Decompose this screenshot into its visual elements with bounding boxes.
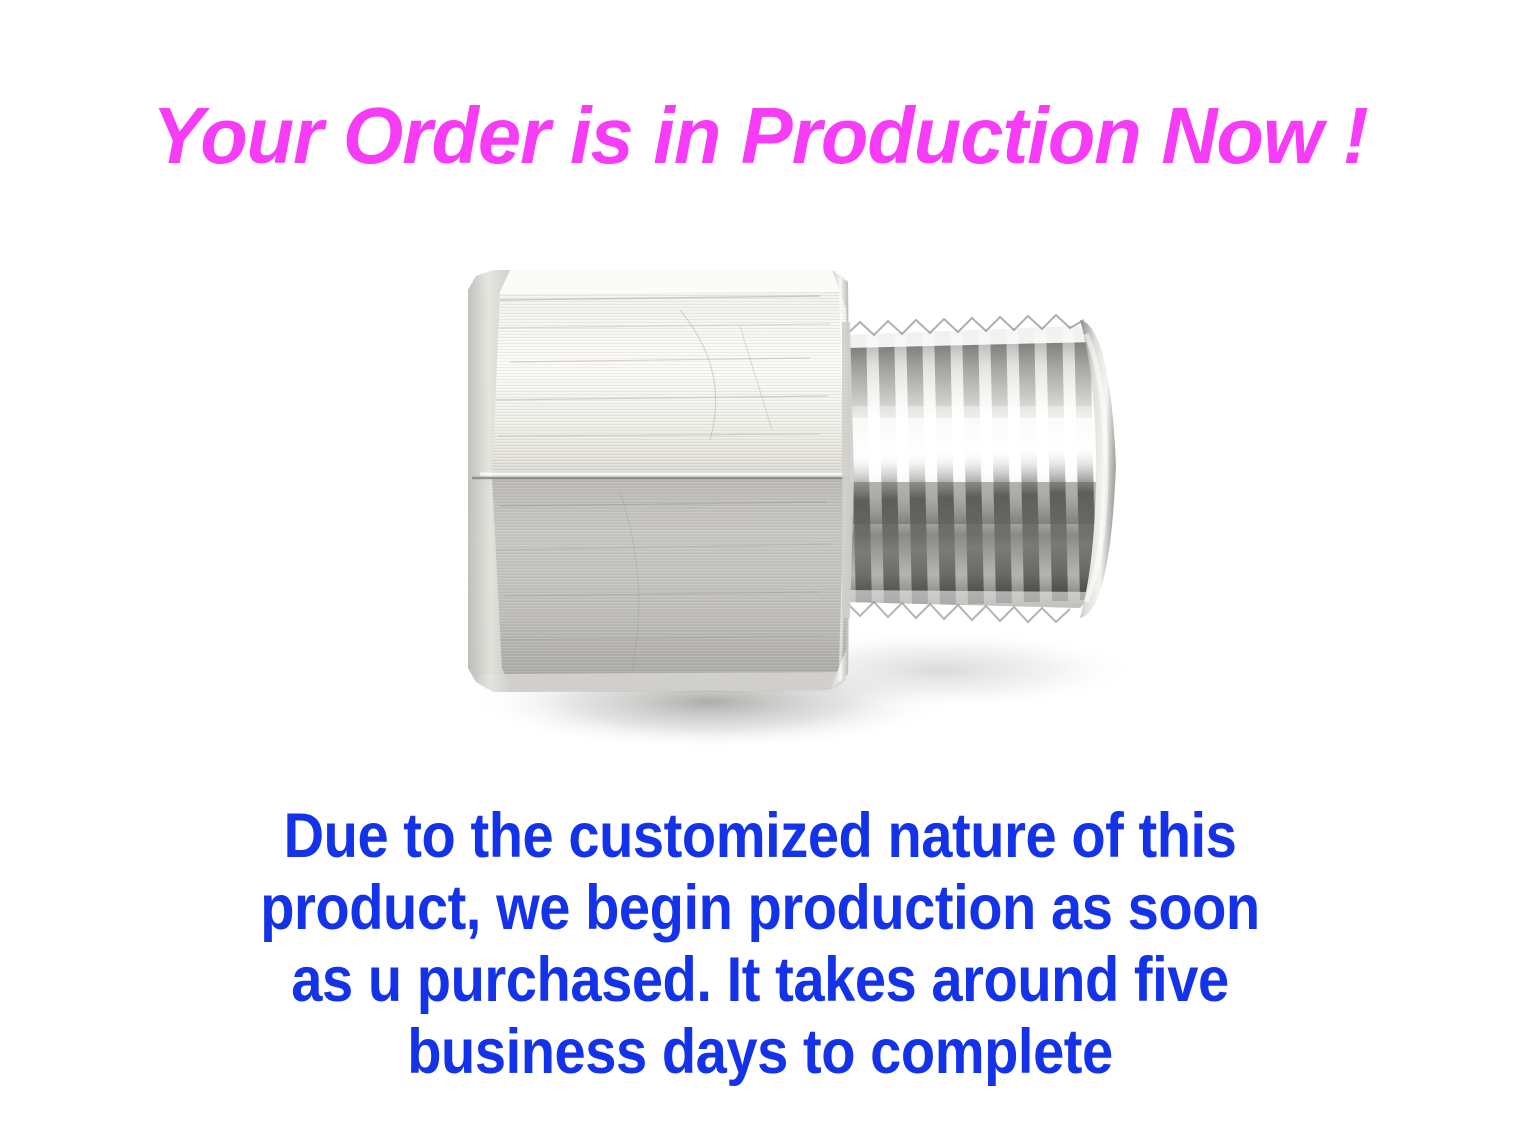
product-image bbox=[380, 230, 1180, 790]
body-copy: Due to the customized nature of this pro… bbox=[0, 800, 1520, 1088]
threaded-shank bbox=[840, 315, 1120, 622]
page-title: Your Order is in Production Now ! bbox=[23, 96, 1497, 176]
promo-banner: Your Order is in Production Now ! bbox=[0, 0, 1520, 1140]
body-copy-line-2: product, we begin production as soon bbox=[84, 872, 1437, 944]
hex-body bbox=[460, 265, 860, 698]
thread-crest-bottom bbox=[846, 590, 1096, 622]
thread-turns bbox=[850, 318, 1108, 608]
body-copy-line-3: as u purchased. It takes around five bbox=[84, 944, 1437, 1016]
pipe-fitting-illustration bbox=[380, 230, 1180, 790]
body-copy-line-1: Due to the customized nature of this bbox=[84, 800, 1437, 872]
body-copy-line-4: business days to complete bbox=[84, 1016, 1437, 1088]
